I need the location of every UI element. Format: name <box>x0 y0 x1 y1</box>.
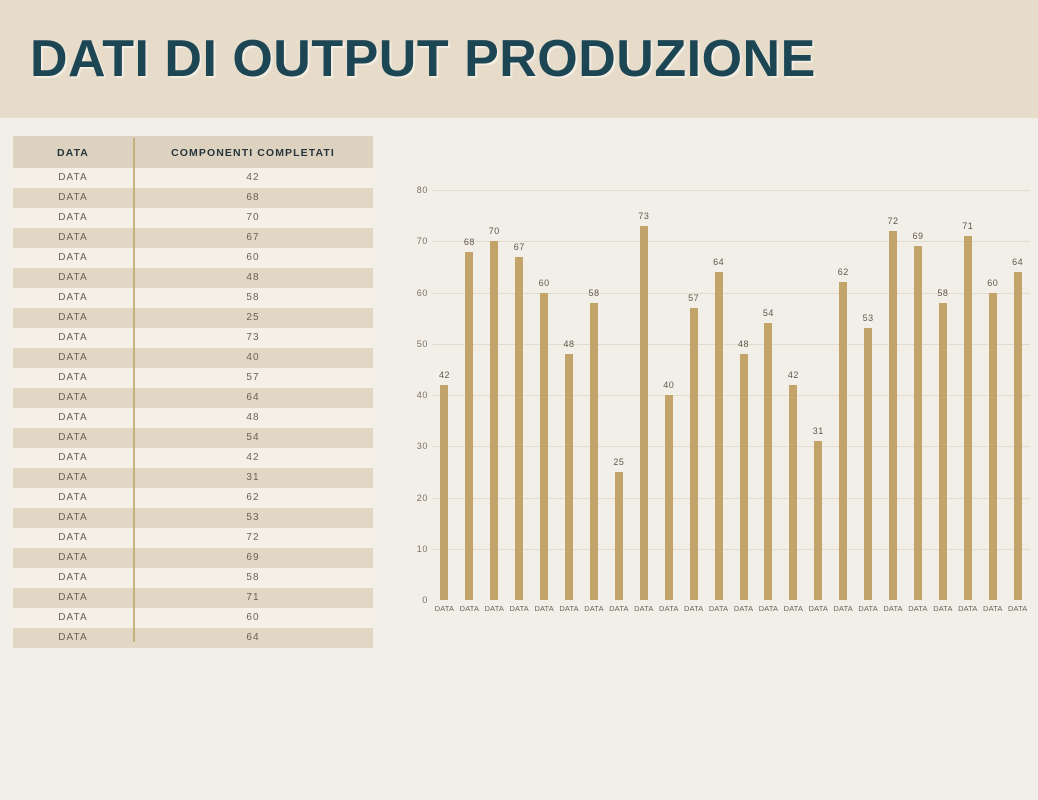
bar-value-label: 60 <box>987 278 998 288</box>
x-axis-tick-label: DATA <box>881 604 906 613</box>
y-axis-tick-label: 80 <box>400 185 428 195</box>
bar[interactable]: 42 <box>440 385 448 600</box>
cell-date: DATA <box>13 188 133 208</box>
page-title: DATI DI OUTPUT PRODUZIONE <box>30 30 816 88</box>
table-row: DATA62 <box>13 488 373 508</box>
cell-components-completed: 25 <box>133 308 373 328</box>
bar-slot: 48 <box>731 190 756 600</box>
bar-slot: 54 <box>756 190 781 600</box>
table-row: DATA73 <box>13 328 373 348</box>
cell-date: DATA <box>13 508 133 528</box>
bar-value-label: 42 <box>439 370 450 380</box>
table-row: DATA53 <box>13 508 373 528</box>
bar-slot: 72 <box>881 190 906 600</box>
cell-components-completed: 72 <box>133 528 373 548</box>
cell-components-completed: 60 <box>133 608 373 628</box>
x-axis-tick-label: DATA <box>557 604 582 613</box>
table-row: DATA71 <box>13 588 373 608</box>
cell-date: DATA <box>13 628 133 648</box>
table-row: DATA42 <box>13 168 373 188</box>
cell-date: DATA <box>13 208 133 228</box>
cell-components-completed: 68 <box>133 188 373 208</box>
bar-value-label: 64 <box>713 257 724 267</box>
bar[interactable]: 58 <box>590 303 598 600</box>
bar[interactable]: 25 <box>615 472 623 600</box>
bar-series: 4268706760485825734057644854423162537269… <box>432 190 1030 600</box>
bar[interactable]: 67 <box>515 257 523 600</box>
bar-slot: 68 <box>457 190 482 600</box>
y-axis-tick-label: 30 <box>400 441 428 451</box>
x-axis-tick-label: DATA <box>582 604 607 613</box>
bar-value-label: 48 <box>738 339 749 349</box>
slide-canvas: DATI DI OUTPUT PRODUZIONE DATA COMPONENT… <box>0 0 1038 800</box>
x-axis-tick-label: DATA <box>806 604 831 613</box>
cell-components-completed: 64 <box>133 628 373 648</box>
x-axis-tick-label: DATA <box>532 604 557 613</box>
bar-slot: 69 <box>906 190 931 600</box>
cell-components-completed: 53 <box>133 508 373 528</box>
x-axis-tick-label: DATA <box>831 604 856 613</box>
table-row: DATA48 <box>13 268 373 288</box>
bar-slot: 31 <box>806 190 831 600</box>
cell-components-completed: 64 <box>133 388 373 408</box>
x-axis-tick-label: DATA <box>507 604 532 613</box>
cell-date: DATA <box>13 288 133 308</box>
bar-value-label: 64 <box>1012 257 1023 267</box>
bar-value-label: 58 <box>937 288 948 298</box>
bar[interactable]: 72 <box>889 231 897 600</box>
bar-value-label: 62 <box>838 267 849 277</box>
y-axis-tick-label: 70 <box>400 236 428 246</box>
bar-value-label: 42 <box>788 370 799 380</box>
table-row: DATA58 <box>13 568 373 588</box>
bar-value-label: 69 <box>912 231 923 241</box>
column-header-components: COMPONENTI COMPLETATI <box>133 136 373 168</box>
table-row: DATA68 <box>13 188 373 208</box>
x-axis-tick-label: DATA <box>731 604 756 613</box>
x-axis-tick-label: DATA <box>706 604 731 613</box>
x-axis-tick-label: DATA <box>955 604 980 613</box>
table-row: DATA69 <box>13 548 373 568</box>
bar[interactable]: 58 <box>939 303 947 600</box>
x-axis-tick-label: DATA <box>482 604 507 613</box>
x-axis-tick-label: DATA <box>856 604 881 613</box>
y-axis-tick-label: 0 <box>400 595 428 605</box>
bar-value-label: 68 <box>464 237 475 247</box>
cell-components-completed: 58 <box>133 288 373 308</box>
cell-components-completed: 42 <box>133 448 373 468</box>
bar-slot: 71 <box>955 190 980 600</box>
table-row: DATA60 <box>13 248 373 268</box>
cell-components-completed: 70 <box>133 208 373 228</box>
y-axis-tick-label: 40 <box>400 390 428 400</box>
bar-slot: 70 <box>482 190 507 600</box>
x-axis-tick-label: DATA <box>781 604 806 613</box>
cell-date: DATA <box>13 328 133 348</box>
table-row: DATA64 <box>13 388 373 408</box>
bar-slot: 25 <box>606 190 631 600</box>
cell-date: DATA <box>13 548 133 568</box>
cell-date: DATA <box>13 428 133 448</box>
y-axis: 01020304050607080 <box>400 190 428 600</box>
cell-date: DATA <box>13 168 133 188</box>
table-row: DATA54 <box>13 428 373 448</box>
x-axis-tick-label: DATA <box>906 604 931 613</box>
bar-slot: 40 <box>656 190 681 600</box>
x-axis-tick-label: DATA <box>1005 604 1030 613</box>
data-table-container: DATA COMPONENTI COMPLETATI DATA42DATA68D… <box>13 136 373 648</box>
cell-date: DATA <box>13 308 133 328</box>
table-row: DATA42 <box>13 448 373 468</box>
cell-date: DATA <box>13 348 133 368</box>
bar-slot: 58 <box>582 190 607 600</box>
cell-components-completed: 57 <box>133 368 373 388</box>
table-row: DATA40 <box>13 348 373 368</box>
cell-components-completed: 42 <box>133 168 373 188</box>
table-row: DATA25 <box>13 308 373 328</box>
cell-components-completed: 31 <box>133 468 373 488</box>
bar-value-label: 73 <box>638 211 649 221</box>
table-row: DATA64 <box>13 628 373 648</box>
bar[interactable]: 48 <box>740 354 748 600</box>
cell-date: DATA <box>13 408 133 428</box>
table-header: DATA COMPONENTI COMPLETATI <box>13 136 373 168</box>
bar[interactable]: 70 <box>490 241 498 600</box>
y-axis-tick-label: 10 <box>400 544 428 554</box>
bar[interactable]: 73 <box>640 226 648 600</box>
cell-components-completed: 69 <box>133 548 373 568</box>
x-axis-tick-label: DATA <box>930 604 955 613</box>
cell-date: DATA <box>13 368 133 388</box>
bar-value-label: 53 <box>863 313 874 323</box>
x-axis-tick-label: DATA <box>457 604 482 613</box>
table-row: DATA67 <box>13 228 373 248</box>
cell-components-completed: 54 <box>133 428 373 448</box>
table-row: DATA70 <box>13 208 373 228</box>
bar-value-label: 25 <box>613 457 624 467</box>
bar-slot: 48 <box>557 190 582 600</box>
x-axis-tick-label: DATA <box>681 604 706 613</box>
x-axis-tick-label: DATA <box>606 604 631 613</box>
bar-slot: 73 <box>631 190 656 600</box>
y-axis-tick-label: 20 <box>400 493 428 503</box>
cell-components-completed: 48 <box>133 408 373 428</box>
cell-components-completed: 60 <box>133 248 373 268</box>
bar-slot: 58 <box>930 190 955 600</box>
cell-date: DATA <box>13 468 133 488</box>
cell-date: DATA <box>13 568 133 588</box>
table-row: DATA57 <box>13 368 373 388</box>
cell-components-completed: 48 <box>133 268 373 288</box>
bar-slot: 60 <box>532 190 557 600</box>
bar-value-label: 71 <box>962 221 973 231</box>
bar[interactable]: 60 <box>989 293 997 601</box>
x-axis-tick-label: DATA <box>432 604 457 613</box>
bar-slot: 64 <box>1005 190 1030 600</box>
cell-components-completed: 40 <box>133 348 373 368</box>
bar-slot: 57 <box>681 190 706 600</box>
table-row: DATA72 <box>13 528 373 548</box>
table-row: DATA31 <box>13 468 373 488</box>
table-row: DATA60 <box>13 608 373 628</box>
bar-value-label: 70 <box>489 226 500 236</box>
table-column-divider <box>133 138 135 642</box>
column-header-date: DATA <box>13 136 133 168</box>
bar-slot: 60 <box>980 190 1005 600</box>
bar[interactable]: 40 <box>665 395 673 600</box>
bar-value-label: 58 <box>588 288 599 298</box>
cell-date: DATA <box>13 248 133 268</box>
bar-value-label: 67 <box>514 242 525 252</box>
bar-value-label: 54 <box>763 308 774 318</box>
bar-value-label: 48 <box>564 339 575 349</box>
bar[interactable]: 71 <box>964 236 972 600</box>
bar[interactable]: 42 <box>789 385 797 600</box>
bar[interactable]: 48 <box>565 354 573 600</box>
bar[interactable]: 53 <box>864 328 872 600</box>
cell-date: DATA <box>13 608 133 628</box>
bar-value-label: 57 <box>688 293 699 303</box>
bar-slot: 42 <box>432 190 457 600</box>
x-axis-tick-label: DATA <box>980 604 1005 613</box>
bar-value-label: 31 <box>813 426 824 436</box>
table-row: DATA58 <box>13 288 373 308</box>
cell-components-completed: 67 <box>133 228 373 248</box>
cell-date: DATA <box>13 588 133 608</box>
bar-slot: 62 <box>831 190 856 600</box>
bar-value-label: 72 <box>888 216 899 226</box>
bar-value-label: 60 <box>539 278 550 288</box>
cell-date: DATA <box>13 388 133 408</box>
bar-value-label: 40 <box>663 380 674 390</box>
bar[interactable]: 68 <box>465 252 473 601</box>
x-axis-tick-label: DATA <box>631 604 656 613</box>
bar-slot: 67 <box>507 190 532 600</box>
y-axis-tick-label: 60 <box>400 288 428 298</box>
production-data-table: DATA COMPONENTI COMPLETATI DATA42DATA68D… <box>13 136 373 648</box>
bar[interactable]: 60 <box>540 293 548 601</box>
cell-components-completed: 71 <box>133 588 373 608</box>
bar[interactable]: 31 <box>814 441 822 600</box>
bar-chart: 01020304050607080 4268706760485825734057… <box>400 190 1032 635</box>
table-header-row: DATA COMPONENTI COMPLETATI <box>13 136 373 168</box>
x-axis-tick-label: DATA <box>656 604 681 613</box>
x-axis: DATADATADATADATADATADATADATADATADATADATA… <box>432 604 1030 613</box>
cell-date: DATA <box>13 528 133 548</box>
bar[interactable]: 64 <box>1014 272 1022 600</box>
cell-date: DATA <box>13 488 133 508</box>
cell-components-completed: 73 <box>133 328 373 348</box>
bar[interactable]: 64 <box>715 272 723 600</box>
bar-slot: 42 <box>781 190 806 600</box>
cell-components-completed: 58 <box>133 568 373 588</box>
cell-date: DATA <box>13 228 133 248</box>
bar[interactable]: 57 <box>690 308 698 600</box>
x-axis-tick-label: DATA <box>756 604 781 613</box>
bar[interactable]: 54 <box>764 323 772 600</box>
cell-date: DATA <box>13 448 133 468</box>
cell-date: DATA <box>13 268 133 288</box>
header-band: DATI DI OUTPUT PRODUZIONE <box>0 0 1038 118</box>
table-body: DATA42DATA68DATA70DATA67DATA60DATA48DATA… <box>13 168 373 648</box>
plot-area: 4268706760485825734057644854423162537269… <box>432 190 1030 600</box>
y-axis-tick-label: 50 <box>400 339 428 349</box>
bar[interactable]: 69 <box>914 246 922 600</box>
table-row: DATA48 <box>13 408 373 428</box>
bar[interactable]: 62 <box>839 282 847 600</box>
bar-slot: 64 <box>706 190 731 600</box>
cell-components-completed: 62 <box>133 488 373 508</box>
bar-slot: 53 <box>856 190 881 600</box>
